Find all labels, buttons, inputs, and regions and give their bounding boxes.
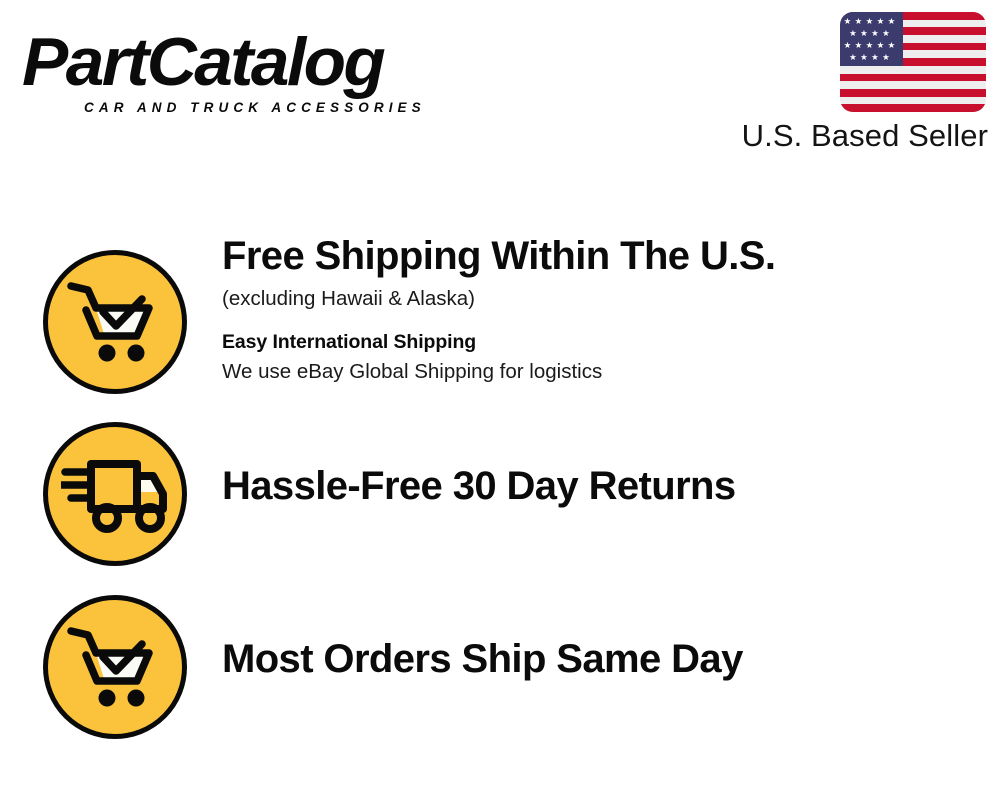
flag-star: ★ <box>882 29 891 38</box>
feature-title: Hassle-Free 30 Day Returns <box>222 462 962 510</box>
flag-star: ★ <box>871 53 880 62</box>
feature-text-block: Most Orders Ship Same Day <box>222 635 962 683</box>
flag-canton: ★ ★ ★ ★ ★ ★ ★ ★ ★ ★ ★ ★ ★ ★ <box>840 12 903 66</box>
feature-row: Hassle-Free 30 Day Returns <box>0 414 1000 574</box>
shipping-info-banner: PartCatalog CAR AND TRUCK ACCESSORIES <box>0 0 1000 800</box>
flag-star: ★ <box>876 41 885 50</box>
feature-title: Most Orders Ship Same Day <box>222 635 962 683</box>
flag-star: ★ <box>876 17 885 26</box>
flag-star: ★ <box>882 53 891 62</box>
us-flag-graphic: ★ ★ ★ ★ ★ ★ ★ ★ ★ ★ ★ ★ ★ ★ <box>840 12 986 112</box>
flag-stripe <box>840 89 986 97</box>
flag-stripe <box>840 81 986 89</box>
feature-sub-heading: Easy International Shipping <box>222 327 962 357</box>
delivery-truck-icon <box>43 422 187 566</box>
flag-star: ★ <box>849 53 858 62</box>
brand-logo: PartCatalog CAR AND TRUCK ACCESSORIES <box>22 28 492 116</box>
feature-sub-detail: We use eBay Global Shipping for logistic… <box>222 357 962 387</box>
feature-row: Most Orders Ship Same Day <box>0 587 1000 747</box>
flag-star: ★ <box>887 41 896 50</box>
flag-star: ★ <box>887 17 896 26</box>
flag-star: ★ <box>871 29 880 38</box>
flag-stripe <box>840 66 986 74</box>
brand-tagline: CAR AND TRUCK ACCESSORIES <box>84 100 426 115</box>
flag-star: ★ <box>860 53 869 62</box>
flag-star: ★ <box>865 41 874 50</box>
feature-text-block: Hassle-Free 30 Day Returns <box>222 462 962 510</box>
flag-stripe <box>840 97 986 105</box>
header: PartCatalog CAR AND TRUCK ACCESSORIES <box>0 0 1000 175</box>
flag-star: ★ <box>843 41 852 50</box>
shopping-cart-check-icon <box>43 595 187 739</box>
us-based-seller-label: U.S. Based Seller <box>742 118 988 154</box>
flag-star: ★ <box>854 41 863 50</box>
flag-stripe <box>840 74 986 82</box>
flag-star: ★ <box>854 17 863 26</box>
feature-row: Free Shipping Within The U.S. (excluding… <box>0 232 1000 407</box>
flag-star: ★ <box>865 17 874 26</box>
brand-wordmark: PartCatalog <box>22 28 501 96</box>
flag-star: ★ <box>843 17 852 26</box>
flag-stripe <box>840 104 986 112</box>
feature-title: Free Shipping Within The U.S. <box>222 232 962 280</box>
flag-star: ★ <box>849 29 858 38</box>
feature-text-block: Free Shipping Within The U.S. (excluding… <box>222 232 962 387</box>
feature-sub-note: (excluding Hawaii & Alaska) <box>222 284 962 314</box>
shopping-cart-check-icon <box>43 250 187 394</box>
us-flag-icon: ★ ★ ★ ★ ★ ★ ★ ★ ★ ★ ★ ★ ★ ★ <box>840 12 986 112</box>
flag-star: ★ <box>860 29 869 38</box>
